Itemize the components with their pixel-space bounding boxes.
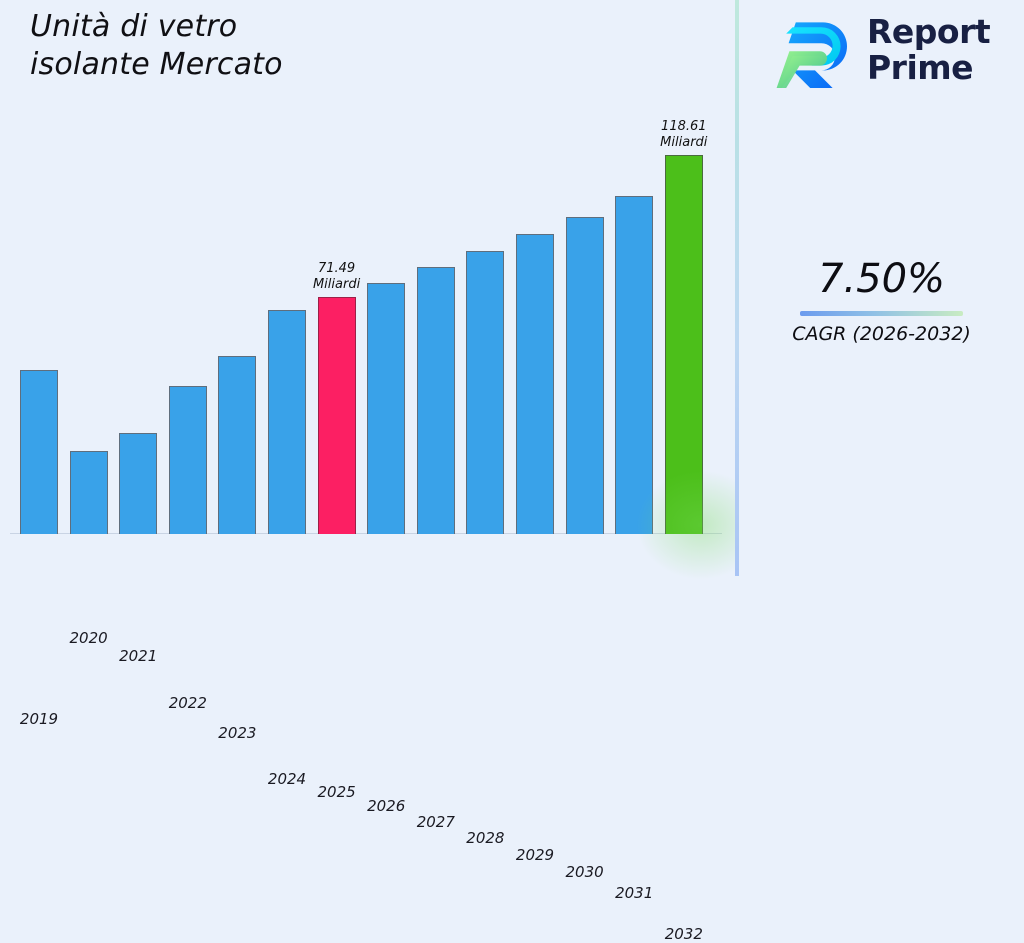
x-tick-2028: 2028 [466, 829, 504, 847]
bar-group-2021: 2021 [119, 433, 157, 534]
chart-panel: Unità di vetro isolante Mercato 20192020… [0, 0, 737, 576]
bar-2019[interactable] [20, 370, 58, 534]
report-prime-logo-icon [775, 16, 855, 96]
bar-chart-plot: 20192020202120222023202471.49 Miliardi20… [0, 0, 737, 576]
x-tick-2029: 2029 [516, 846, 554, 864]
x-tick-2022: 2022 [169, 694, 207, 712]
bar-2031[interactable] [615, 196, 653, 534]
x-tick-2021: 2021 [119, 647, 157, 665]
cagr-block: 7.50% CAGR (2026-2032) [739, 255, 1024, 346]
cagr-caption: CAGR (2026-2032) [739, 322, 1024, 346]
x-tick-2023: 2023 [218, 724, 256, 742]
bar-group-2022: 2022 [169, 386, 207, 534]
bar-2023[interactable] [218, 356, 256, 534]
bar-2030[interactable] [566, 217, 604, 534]
bar-2020[interactable] [70, 451, 108, 534]
x-tick-2024: 2024 [268, 770, 306, 788]
bar-group-2025: 71.49 Miliardi2025 [318, 297, 356, 534]
bar-2032[interactable] [665, 155, 703, 534]
x-tick-2027: 2027 [417, 813, 455, 831]
bar-group-2031: 2031 [615, 196, 653, 534]
x-tick-2025: 2025 [318, 783, 356, 801]
bar-group-2030: 2030 [566, 217, 604, 534]
cagr-divider-rule [800, 311, 963, 316]
x-tick-2020: 2020 [70, 629, 108, 647]
bar-group-2027: 2027 [417, 267, 455, 534]
bar-value-label-2032: 118.61 Miliardi [636, 119, 732, 151]
bar-group-2028: 2028 [466, 251, 504, 534]
bar-group-2019: 2019 [20, 370, 58, 534]
screenshot-root: Unità di vetro isolante Mercato 20192020… [0, 0, 1024, 576]
x-tick-2026: 2026 [367, 797, 405, 815]
bar-2025[interactable] [318, 297, 356, 534]
x-tick-2019: 2019 [20, 710, 58, 728]
bar-2026[interactable] [367, 283, 405, 534]
bar-group-2032: 118.61 Miliardi2032 [665, 155, 703, 534]
bar-group-2023: 2023 [218, 356, 256, 534]
bar-2022[interactable] [169, 386, 207, 534]
brand-logo-text: Report Prime [867, 14, 1024, 86]
bar-group-2026: 2026 [367, 283, 405, 534]
side-panel: Report Prime 7.50% CAGR (2026-2032) [739, 0, 1024, 576]
bar-group-2029: 2029 [516, 234, 554, 534]
bar-2029[interactable] [516, 234, 554, 534]
x-tick-2030: 2030 [566, 863, 604, 881]
bar-2028[interactable] [466, 251, 504, 534]
bar-2021[interactable] [119, 433, 157, 534]
bar-group-2020: 2020 [70, 451, 108, 534]
cagr-value: 7.50% [739, 255, 1024, 303]
bar-2027[interactable] [417, 267, 455, 534]
bar-group-2024: 2024 [268, 310, 306, 534]
brand-logo: Report Prime [775, 12, 1015, 98]
x-tick-2032: 2032 [665, 925, 703, 943]
x-tick-2031: 2031 [615, 884, 653, 902]
bar-2024[interactable] [268, 310, 306, 534]
